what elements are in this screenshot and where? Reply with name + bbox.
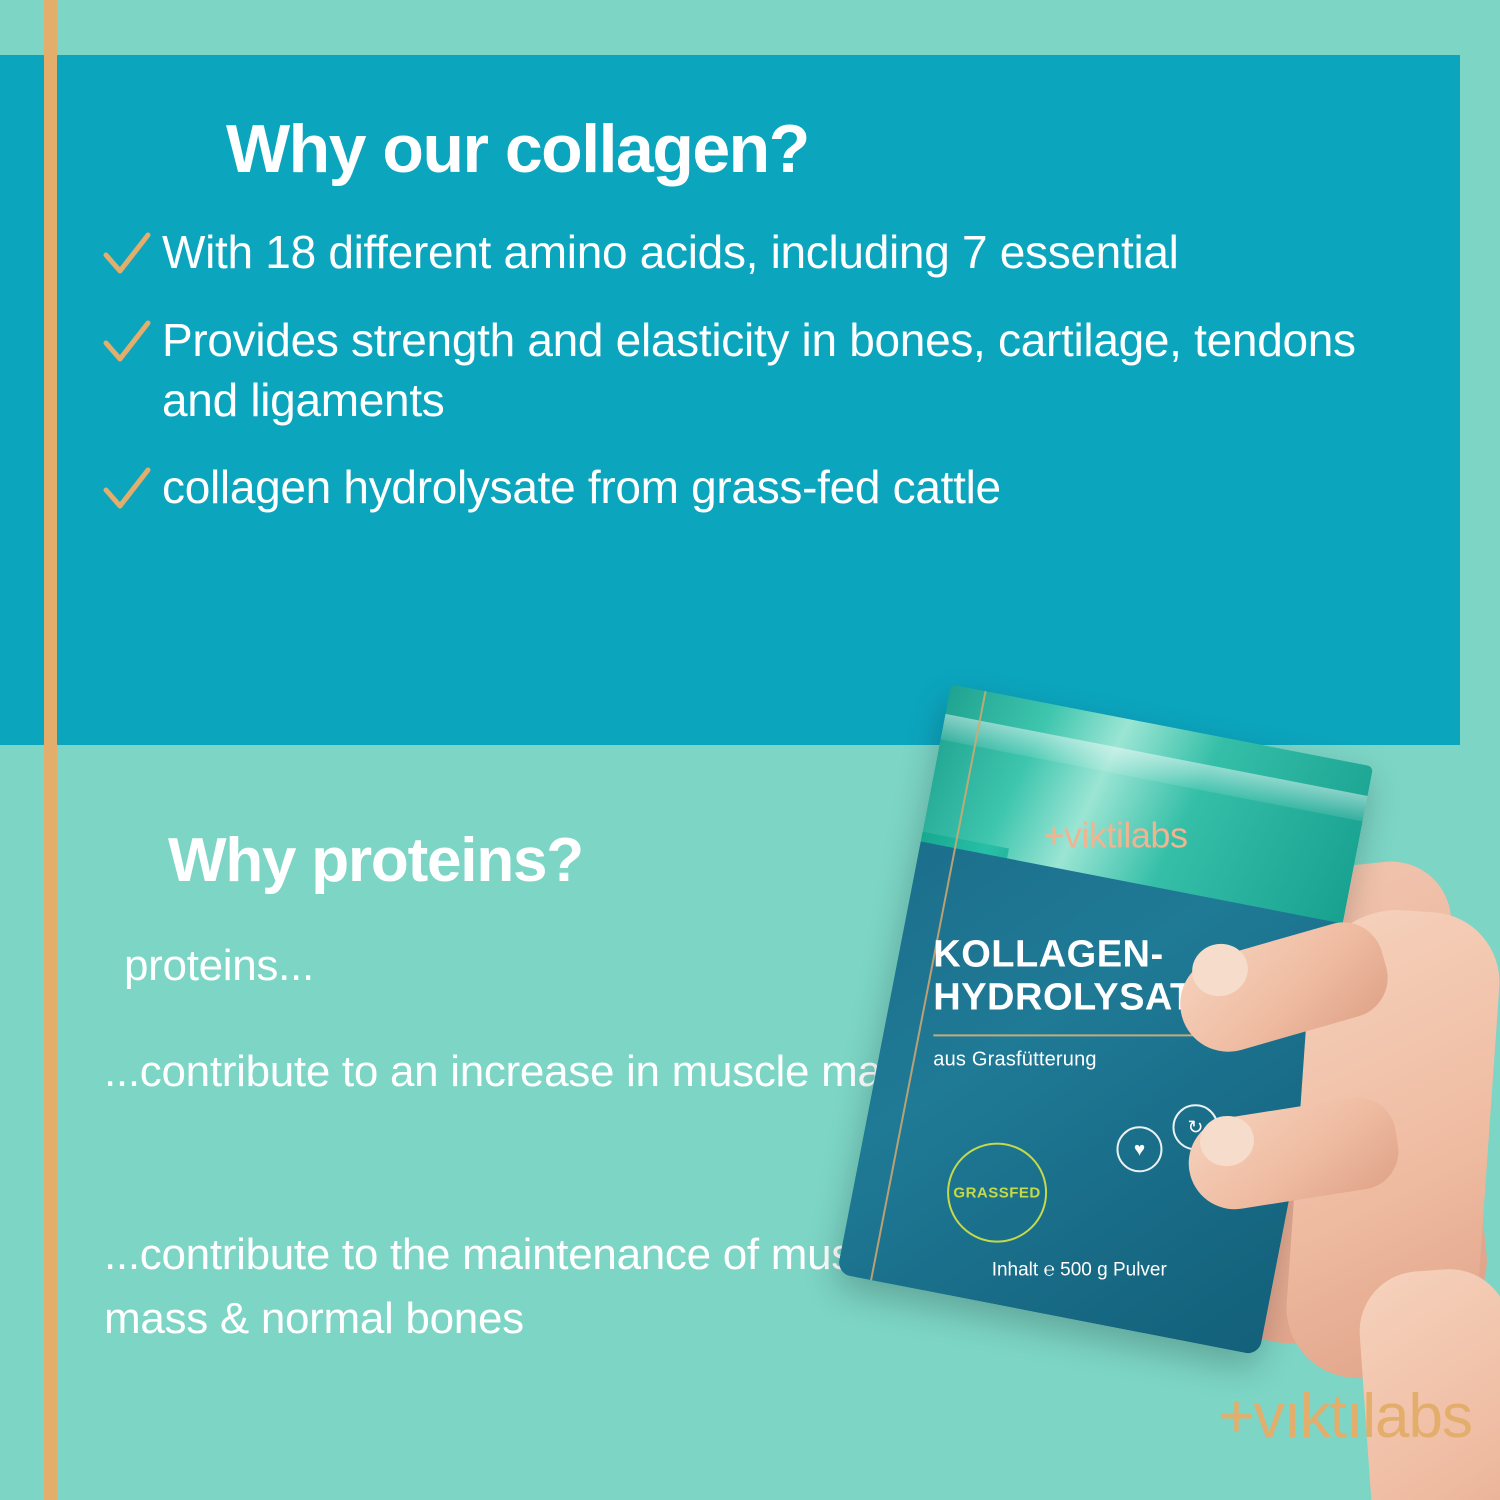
list-item: collagen hydrolysate from grass-fed catt… <box>100 458 1400 518</box>
product-photo: +viktilabs KOLLAGEN- HYDROLYSAT aus Gras… <box>830 700 1500 1380</box>
list-item: With 18 different amino acids, including… <box>100 223 1400 283</box>
hand-front <box>1130 940 1470 1360</box>
pouch-brand-logo: +viktilabs <box>1043 815 1187 857</box>
grassfed-badge: GRASSFED <box>947 1143 1047 1243</box>
check-icon <box>100 229 154 281</box>
collagen-section-title: Why our collagen? <box>226 110 809 188</box>
list-item-label: collagen hydrolysate from grass-fed catt… <box>162 458 1001 518</box>
infographic-canvas: Why our collagen? With 18 different amin… <box>0 0 1500 1500</box>
proteins-section-title: Why proteins? <box>168 825 583 896</box>
list-item: Provides strength and elasticity in bone… <box>100 311 1400 431</box>
brand-logo: +vıktılabs <box>1218 1381 1472 1452</box>
grassfed-badge-label: GRASSFED <box>953 1184 1040 1201</box>
check-icon <box>100 317 154 369</box>
check-icon <box>100 464 154 516</box>
list-item-label: Provides strength and elasticity in bone… <box>162 311 1400 431</box>
proteins-lead-text: proteins... <box>124 941 314 991</box>
list-item-label: With 18 different amino acids, including… <box>162 223 1179 283</box>
collagen-section: Why our collagen? With 18 different amin… <box>0 55 1460 745</box>
collagen-bullet-list: With 18 different amino acids, including… <box>100 223 1400 546</box>
